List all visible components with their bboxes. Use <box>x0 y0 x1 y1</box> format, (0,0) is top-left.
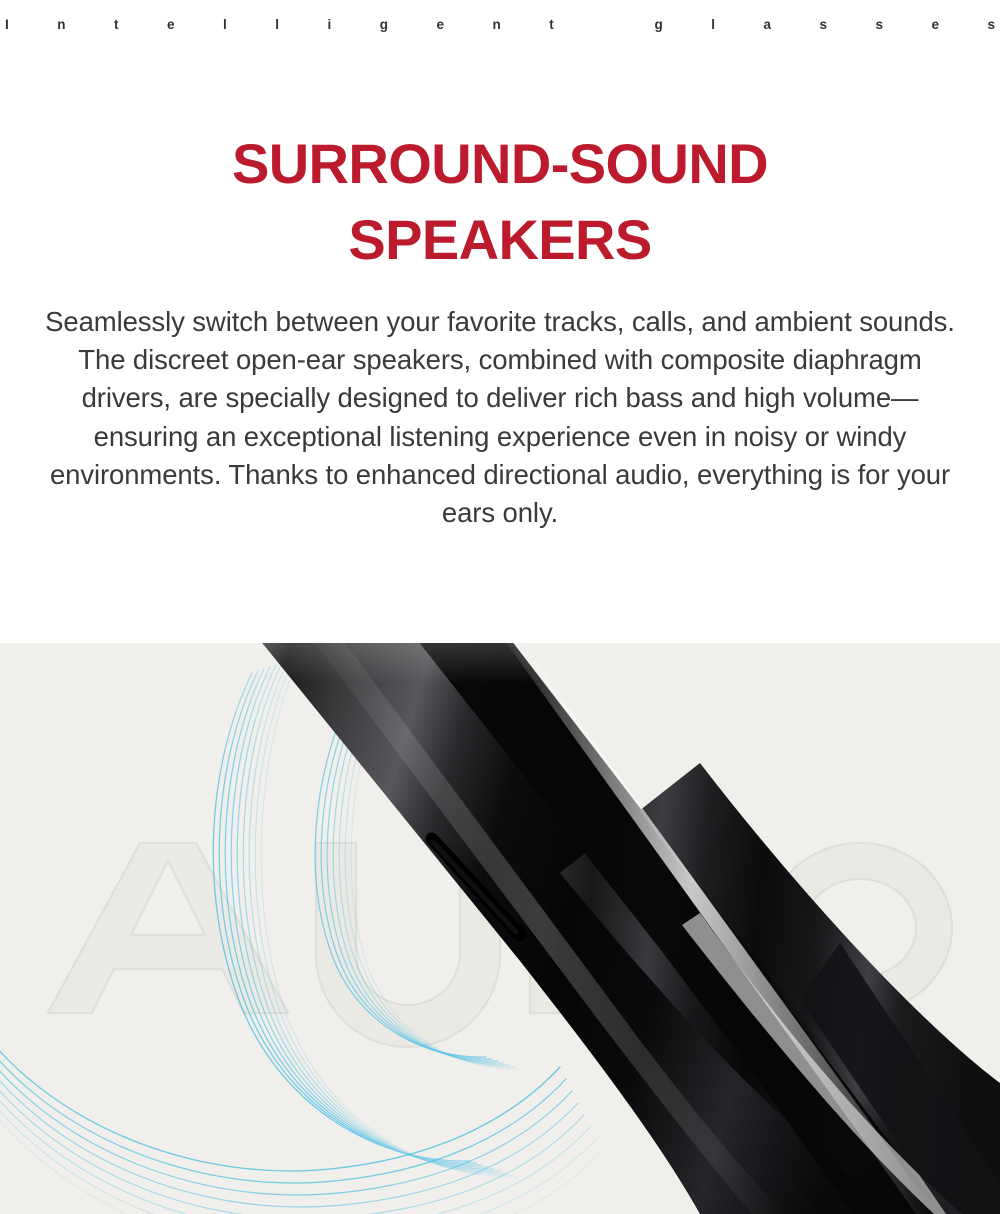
eyebrow-bar: Intelligent glasses <box>0 0 1000 48</box>
product-feature-page: Intelligent glasses SURROUND-SOUND SPEAK… <box>0 0 1000 1214</box>
body-paragraph: Seamlessly switch between your favorite … <box>45 303 955 532</box>
hero-product-image: AUDIO <box>0 643 1000 1214</box>
eyebrow-label: Intelligent glasses <box>0 17 1000 32</box>
page-title: SURROUND-SOUND SPEAKERS <box>120 126 880 278</box>
hero-top-vignette <box>0 643 1000 683</box>
text-section: SURROUND-SOUND SPEAKERS Seamlessly switc… <box>0 48 1000 643</box>
hero-illustration <box>0 643 1000 1214</box>
